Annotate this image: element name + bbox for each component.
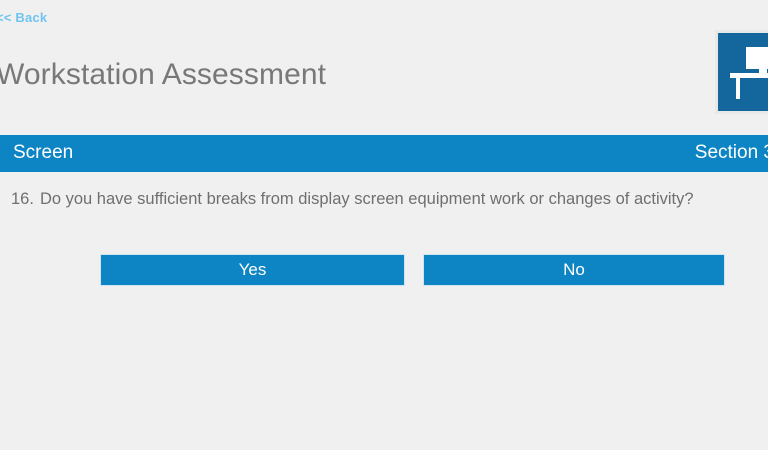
back-link[interactable]: << Back — [0, 10, 47, 25]
page-title: Workstation Assessment — [0, 58, 326, 92]
answer-button-row: Yes No — [0, 254, 768, 288]
desk-monitor-glyph — [728, 45, 768, 101]
section-name: Screen — [13, 142, 73, 164]
question-text: 16.Do you have sufficient breaks from di… — [11, 190, 768, 209]
answer-no-button[interactable]: No — [423, 254, 725, 286]
section-bar: Screen Section 3 — [0, 135, 768, 172]
section-number: Section 3 — [695, 142, 768, 164]
question-number: 16. — [11, 190, 34, 208]
question-body: Do you have sufficient breaks from displ… — [40, 190, 694, 208]
answer-yes-button[interactable]: Yes — [100, 254, 405, 286]
workstation-desk-monitor-icon — [718, 33, 768, 111]
